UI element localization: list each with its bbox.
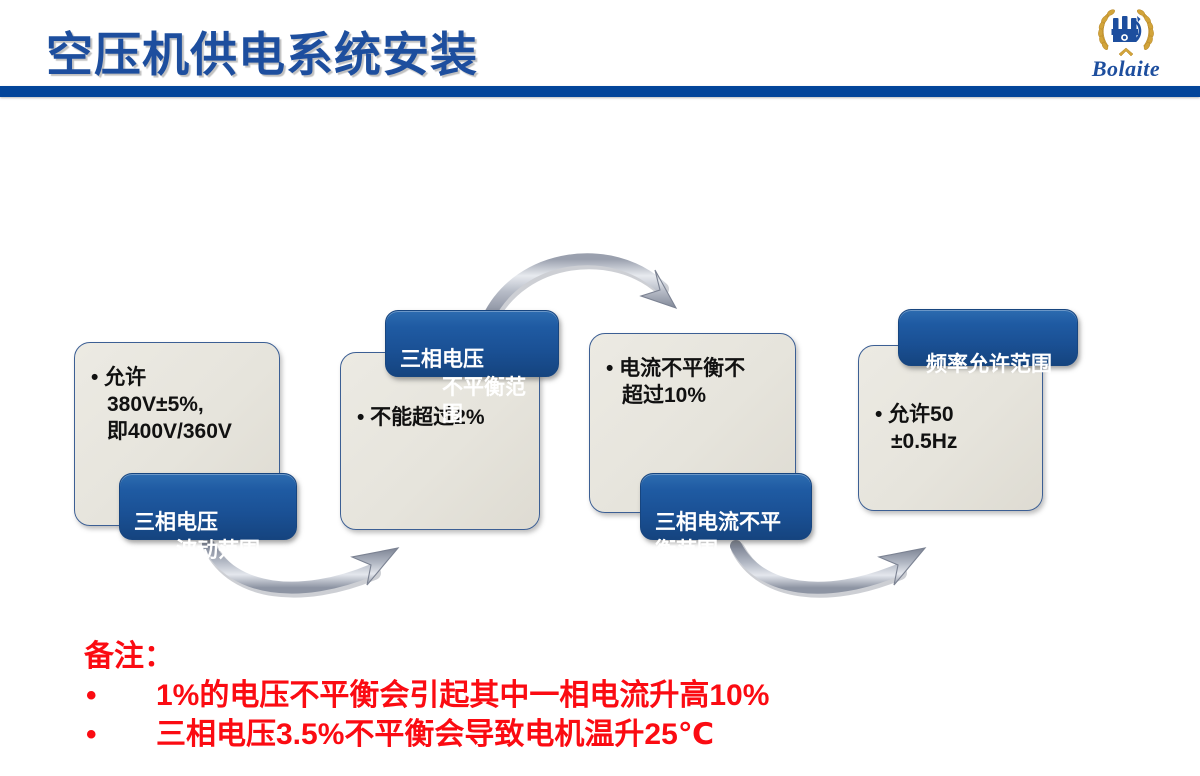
note-item-text: 三相电压3.5%不平衡会导致电机温升25℃ — [156, 718, 714, 751]
card-body-text: • 电流不平衡不 超过10% — [606, 356, 779, 410]
card-label-frequency-range[interactable]: 频率允许范围 — [898, 309, 1078, 366]
card-label-line1: 三相电压 — [400, 348, 484, 371]
card-label-voltage-unbalance[interactable]: 三相电压 不平衡范围 — [385, 310, 559, 377]
card-label-line2: 衡范围 — [655, 537, 799, 564]
note-item: • 三相电压3.5%不平衡会导致电机温升25℃ — [84, 715, 769, 754]
bullet-icon: • — [86, 676, 97, 715]
card-body-text: • 允许 380V±5%, 即400V/360V — [91, 365, 263, 446]
card-label-voltage-fluctuation[interactable]: 三相电压 波动范围 — [119, 473, 297, 540]
bullet-icon: • — [86, 715, 97, 754]
card-label-line2: 波动范围 — [134, 537, 284, 564]
notes-heading: 备注： — [84, 637, 769, 676]
card-label-line1: 三相电压 — [134, 511, 218, 534]
note-item: • 1%的电压不平衡会引起其中一相电流升高10% — [84, 676, 769, 715]
card-label-current-unbalance[interactable]: 三相电流不平 衡范围 — [640, 473, 812, 540]
card-label-line1: 三相电流不平 — [655, 511, 781, 534]
card-label-line1: 频率允许范围 — [926, 353, 1052, 376]
note-item-text: 1%的电压不平衡会引起其中一相电流升高10% — [156, 679, 769, 712]
card-body-text: • 允许50 ±0.5Hz — [875, 402, 1026, 456]
notes-block: 备注： • 1%的电压不平衡会引起其中一相电流升高10% • 三相电压3.5%不… — [84, 637, 769, 754]
card-label-line2: 不平衡范围 — [400, 374, 546, 429]
